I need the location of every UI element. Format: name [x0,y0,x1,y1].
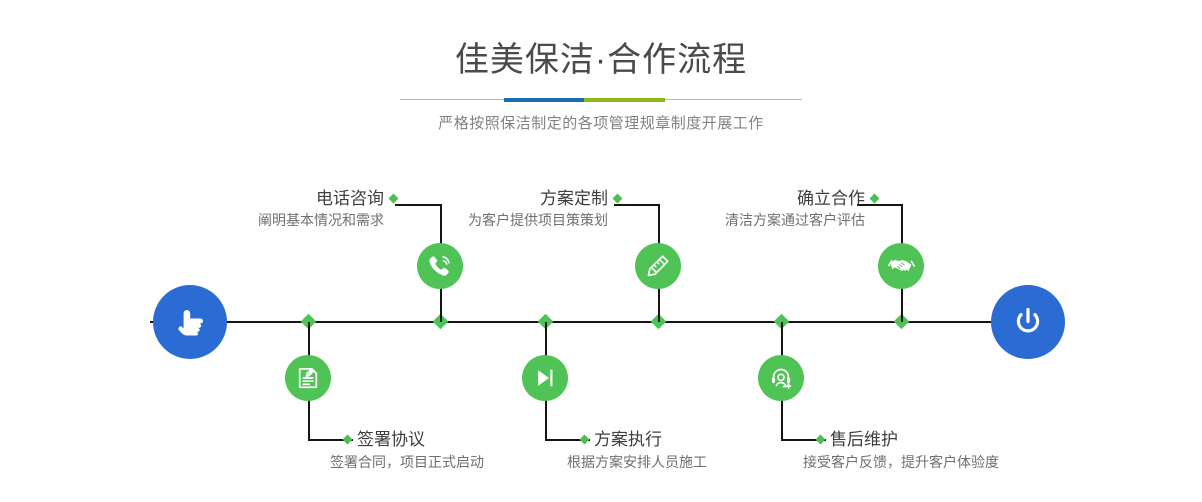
step-title-row-2: 签署协议 [357,428,484,451]
step-title-4: 方案执行 [594,430,662,449]
document-edit-icon [294,364,322,392]
step-label-4: 方案执行 根据方案安排人员施工 [594,428,707,473]
step-icon-3[interactable] [635,243,681,289]
connector-elbow-1 [395,204,441,206]
step-title-row-3: 方案定制 [468,187,608,210]
step-desc-3: 为客户提供项目策策划 [468,212,608,228]
step-label-5: 售后维护 接受客户反馈，提升客户体验度 [830,428,999,473]
step-title-row-5: 售后维护 [830,428,999,451]
handshake-icon [887,252,916,281]
step-title-row-1: 电话咨询 [258,187,384,210]
step-title-6: 确立合作 [797,189,865,208]
label-marker-6 [870,194,880,204]
step-label-2: 签署协议 签署合同，项目正式启动 [357,428,484,473]
step-title-5: 售后维护 [830,430,898,449]
step-desc-2: 签署合同，项目正式启动 [330,452,484,473]
process-flow-infographic: 佳美保洁·合作流程 严格按照保洁制定的各项管理规章制度开展工作 [0,0,1202,502]
label-marker-2 [343,435,353,445]
label-marker-1 [389,194,399,204]
timeline-axis [150,321,1052,323]
step-desc-4: 根据方案安排人员施工 [567,452,707,473]
label-marker-3 [613,194,623,204]
play-skip-icon [532,365,558,391]
step-label-3: 方案定制 为客户提供项目策策划 [468,187,608,231]
timeline-start-node[interactable] [153,285,227,359]
step-icon-2[interactable] [285,355,331,401]
label-marker-4 [580,435,590,445]
step-title-1: 电话咨询 [316,189,384,208]
timeline-end-node[interactable] [991,285,1065,359]
label-marker-5 [816,435,826,445]
pointing-hand-icon [170,302,210,342]
step-label-1: 电话咨询 阐明基本情况和需求 [258,187,384,231]
pencil-ruler-icon [644,252,672,280]
step-title-row-6: 确立合作 [725,187,865,210]
step-icon-4[interactable] [522,355,568,401]
step-desc-6: 清洁方案通过客户评估 [725,212,865,228]
step-icon-5[interactable] [758,355,804,401]
connector-elbow-3 [614,204,659,206]
step-title-3: 方案定制 [540,189,608,208]
phone-call-icon [425,251,455,281]
power-button-icon [1008,302,1048,342]
timeline: 电话咨询 阐明基本情况和需求 签署协议 [0,0,1202,502]
step-title-2: 签署协议 [357,430,425,449]
step-icon-1[interactable] [417,243,463,289]
step-title-row-4: 方案执行 [594,428,707,451]
step-label-6: 确立合作 清洁方案通过客户评估 [725,187,865,231]
headset-support-icon [767,364,795,392]
step-desc-5: 接受客户反馈，提升客户体验度 [803,452,999,473]
step-desc-1: 阐明基本情况和需求 [258,212,384,228]
step-icon-6[interactable] [878,243,924,289]
